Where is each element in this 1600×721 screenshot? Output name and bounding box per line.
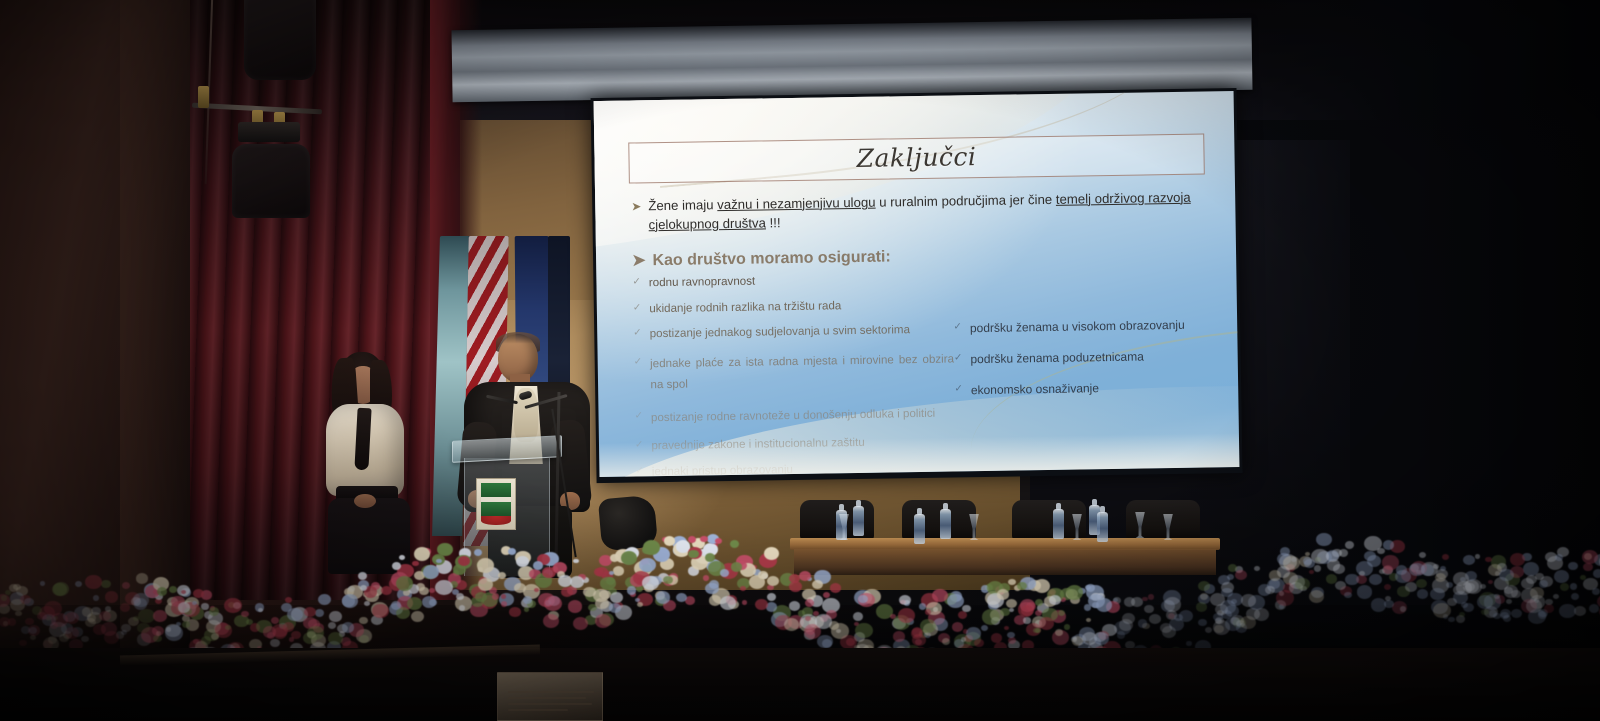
flower	[1345, 541, 1355, 549]
stage-speaker-top	[244, 0, 316, 80]
flower	[1235, 570, 1247, 580]
flower	[1488, 580, 1493, 584]
flower	[899, 595, 911, 605]
water-bottle	[1053, 509, 1064, 539]
flower	[1499, 569, 1514, 582]
auditorium-scene: Zaključci ➤ Žene imaju važnu i nezamjenj…	[0, 0, 1600, 721]
flower	[758, 571, 767, 579]
list-item-label: rodnu ravnopravnost	[649, 275, 756, 291]
flower	[478, 578, 493, 591]
flower	[1545, 599, 1553, 606]
flower	[925, 609, 932, 615]
flower	[1511, 609, 1522, 618]
flower	[755, 599, 768, 610]
flower	[474, 549, 482, 556]
flower	[830, 583, 841, 593]
flower	[1475, 554, 1481, 559]
flower	[1326, 574, 1338, 584]
slide-lead-bullet: ➤ Žene imaju važnu i nezamjenjivu ulogu …	[631, 189, 1204, 235]
flower	[1006, 599, 1017, 608]
flower	[664, 536, 676, 546]
flower	[855, 623, 873, 638]
flower	[1384, 584, 1392, 591]
flower	[544, 596, 562, 611]
list-item-label: podršku ženama poduzetnicama	[970, 350, 1144, 368]
flower	[1309, 570, 1314, 574]
flower	[1309, 590, 1324, 603]
flower	[501, 601, 507, 606]
flower	[1539, 580, 1549, 588]
flower	[1196, 602, 1208, 612]
flower	[524, 607, 529, 612]
flower	[533, 561, 543, 570]
flower	[419, 587, 429, 596]
list-item-label: jednake plaće za ista radna mjesta i mir…	[650, 348, 955, 396]
flower	[573, 559, 578, 564]
flower	[133, 616, 139, 621]
flower	[789, 601, 801, 611]
flower	[720, 569, 729, 577]
flower	[120, 603, 130, 612]
flower	[1553, 594, 1559, 599]
coat-of-arms-icon	[476, 478, 516, 530]
flower	[459, 605, 466, 611]
flower	[1435, 573, 1446, 582]
flower	[991, 633, 1002, 643]
flower	[241, 611, 249, 618]
flower	[1305, 552, 1310, 556]
check-icon: ✓	[633, 302, 642, 317]
flower	[1007, 632, 1015, 638]
flower	[812, 580, 823, 590]
flower	[1066, 585, 1083, 600]
list-item-label: podršku ženama u visokom obrazovanju	[970, 318, 1185, 336]
flower	[19, 640, 27, 647]
flower	[1377, 548, 1385, 555]
flower	[1269, 570, 1282, 581]
flower	[1528, 609, 1546, 624]
list-item: ✓postizanje rodne ravnoteže u donošenju …	[634, 402, 955, 428]
flower	[1086, 584, 1095, 592]
projected-slide: Zaključci ➤ Žene imaju važnu i nezamjenj…	[594, 91, 1240, 477]
flower	[1254, 566, 1260, 571]
flower	[1311, 549, 1329, 564]
flower	[182, 621, 190, 628]
flower	[767, 576, 779, 587]
flower	[981, 625, 988, 631]
check-icon: ✓	[633, 328, 642, 343]
flower	[1316, 533, 1332, 547]
flower	[663, 576, 673, 585]
list-item-label: ekonomsko osnaživanje	[971, 382, 1099, 399]
flower	[1276, 590, 1294, 605]
flower	[1510, 553, 1525, 566]
flower	[435, 580, 453, 595]
check-icon: ✓	[634, 353, 643, 396]
list-item: ✓ekonomsko osnaživanje	[954, 380, 1206, 399]
list-item: ✓jednake plaće za ista radna mjesta i mi…	[634, 348, 955, 396]
flower	[595, 614, 611, 628]
flower	[1442, 554, 1449, 560]
rig-mount-plate	[238, 122, 300, 142]
flower	[688, 550, 698, 559]
flower	[211, 633, 219, 640]
flower	[568, 600, 582, 612]
list-item-label: postizanje rodne ravnoteže u donošenju o…	[651, 403, 936, 429]
flower	[372, 604, 388, 618]
flower	[627, 586, 637, 594]
flower	[805, 599, 814, 607]
flower	[1213, 613, 1222, 621]
flower	[784, 618, 799, 631]
flower	[1072, 636, 1083, 646]
water-bottle	[853, 506, 864, 536]
event-placard	[497, 672, 603, 721]
flower	[705, 583, 718, 595]
stage-speaker-bottom	[232, 144, 310, 218]
flower	[1417, 589, 1429, 599]
flower	[982, 609, 1000, 624]
flower	[1447, 598, 1457, 607]
screen-frame: Zaključci ➤ Žene imaju važnu i nezamjenj…	[591, 88, 1243, 483]
flower	[731, 562, 743, 572]
flower	[5, 590, 11, 595]
flower	[1138, 619, 1148, 627]
flower	[318, 594, 331, 605]
flower	[846, 638, 855, 646]
flower	[1283, 556, 1300, 570]
flower	[1049, 595, 1061, 605]
emblem-green-band-bottom	[481, 502, 511, 516]
flower	[703, 575, 710, 581]
flower	[1453, 572, 1469, 586]
water-bottle	[914, 514, 925, 544]
flower	[570, 576, 584, 588]
flower	[1124, 597, 1135, 607]
flower	[1485, 557, 1492, 563]
flower	[8, 618, 17, 626]
flower	[456, 593, 464, 600]
flower	[85, 575, 102, 590]
flower	[1395, 570, 1410, 583]
flower	[99, 611, 111, 621]
arrow-bullet-icon: ➤	[631, 197, 642, 235]
flower	[1186, 641, 1191, 646]
flower	[1430, 588, 1445, 601]
flower	[396, 576, 413, 591]
flower	[911, 628, 923, 639]
flower	[75, 581, 82, 587]
flower	[561, 587, 573, 597]
flower	[1214, 625, 1223, 633]
emblem-green-band-top	[481, 483, 511, 497]
flower	[93, 595, 99, 601]
flower	[1117, 631, 1126, 638]
flower	[1570, 583, 1578, 590]
flower	[153, 635, 161, 642]
flower	[966, 627, 981, 640]
flower	[1345, 574, 1359, 586]
flower	[1384, 600, 1394, 608]
flower	[1241, 594, 1256, 607]
slide-subheading-row: ➤ Kao društvo moramo osigurati:	[632, 242, 1204, 271]
flower	[101, 580, 111, 588]
flower	[1035, 610, 1042, 616]
flower	[742, 600, 747, 605]
flower	[789, 581, 802, 592]
flower	[1504, 585, 1518, 597]
flower	[1592, 588, 1600, 595]
flower	[1335, 581, 1346, 591]
flower	[289, 637, 295, 642]
flower	[178, 602, 191, 613]
flower	[1463, 603, 1474, 612]
flower	[1339, 549, 1349, 557]
flower	[919, 603, 927, 610]
flower	[342, 594, 359, 608]
flower	[1265, 586, 1275, 595]
flower	[271, 617, 279, 624]
flower	[815, 614, 832, 628]
flower	[492, 593, 499, 599]
flower	[136, 573, 149, 584]
list-item-label: ukidanje rodnih razlika na tržištu rada	[649, 299, 841, 316]
flower	[1280, 547, 1291, 556]
flower	[1554, 570, 1569, 583]
slide-title: Zaključci	[856, 142, 976, 173]
flower	[610, 554, 619, 561]
flower	[157, 587, 168, 596]
flower	[1583, 563, 1593, 572]
flower	[509, 607, 520, 617]
flower	[498, 572, 506, 579]
flower	[730, 540, 739, 548]
flower	[501, 594, 506, 599]
list-item: ✓rodnu ravnopravnost	[632, 272, 953, 292]
flower	[423, 565, 439, 579]
hands	[354, 494, 376, 508]
list-item: ✓ukidanje rodnih razlika na tržištu rada	[633, 297, 954, 317]
flower	[1344, 592, 1352, 599]
list-item: ✓podršku ženama poduzetnicama	[954, 349, 1206, 368]
lighting-rig	[186, 0, 376, 224]
flower	[399, 555, 405, 560]
flower	[705, 553, 716, 562]
flower	[134, 598, 147, 610]
flower	[740, 586, 746, 591]
flower	[1, 595, 7, 600]
flower	[1571, 593, 1580, 601]
flower	[358, 572, 367, 580]
flower	[1448, 617, 1455, 623]
list-item-label: postizanje jednakog sudjelovanja u svim …	[650, 324, 911, 343]
flower	[997, 589, 1009, 600]
flower	[364, 601, 370, 606]
flower	[898, 608, 915, 623]
flower	[1383, 540, 1394, 549]
check-icon: ✓	[954, 384, 963, 399]
flower	[764, 547, 779, 560]
flower	[1521, 578, 1534, 589]
flower	[329, 611, 342, 622]
flower	[1400, 606, 1406, 611]
flower	[1419, 552, 1426, 558]
flower	[1149, 614, 1161, 624]
flower	[1560, 583, 1569, 591]
flower	[209, 607, 219, 616]
flower	[1162, 626, 1176, 638]
flower	[831, 623, 849, 639]
flower	[1055, 629, 1063, 636]
woman-standing	[312, 352, 420, 572]
flower	[272, 624, 288, 638]
check-icon: ✓	[634, 407, 643, 429]
flower	[1357, 585, 1372, 598]
flower	[1523, 562, 1539, 576]
emblem-red-field	[481, 516, 511, 525]
flower	[853, 612, 863, 621]
flower	[1463, 555, 1475, 566]
flower	[1198, 581, 1210, 591]
slide-body: ➤ Žene imaju važnu i nezamjenjivu ulogu …	[631, 189, 1208, 478]
slide-lead-text: Žene imaju važnu i nezamjenjivu ulogu u …	[648, 189, 1203, 235]
flower	[637, 602, 643, 607]
flower	[1021, 605, 1033, 615]
flower	[1555, 554, 1563, 561]
flower	[609, 571, 614, 575]
flower	[799, 571, 811, 581]
flower	[166, 627, 172, 632]
flower	[1333, 564, 1345, 575]
rig-clamp	[198, 86, 209, 108]
slide-title-box: Zaključci	[628, 134, 1205, 184]
arrow-bullet-icon: ➤	[632, 251, 646, 271]
flower	[412, 561, 418, 567]
water-bottle	[1097, 512, 1108, 542]
flower	[122, 582, 131, 590]
flower	[1314, 565, 1322, 572]
check-icon: ✓	[632, 277, 641, 292]
flower	[1568, 562, 1578, 570]
flower	[1405, 582, 1417, 593]
flower	[1416, 579, 1427, 588]
flower	[594, 568, 603, 576]
flower	[1369, 574, 1382, 585]
flower	[169, 586, 177, 593]
flower	[1589, 604, 1599, 613]
flower	[642, 576, 659, 591]
flower	[105, 591, 118, 602]
flower	[381, 586, 392, 595]
list-item: ✓podršku ženama u visokom obrazovanju	[953, 318, 1205, 337]
flower	[1227, 574, 1234, 580]
flower	[1506, 599, 1512, 604]
flower	[639, 558, 656, 573]
flower	[613, 566, 625, 576]
flower	[477, 558, 494, 573]
flower	[152, 626, 164, 636]
water-bottle	[940, 509, 951, 539]
flower	[414, 547, 430, 561]
flower	[767, 593, 777, 602]
flower	[1295, 578, 1310, 591]
flower	[391, 601, 401, 609]
flower	[1544, 604, 1555, 613]
flower	[720, 596, 736, 610]
flower	[1033, 628, 1039, 633]
flower	[823, 592, 830, 598]
flower	[688, 536, 696, 543]
flower	[1480, 584, 1486, 589]
flower	[1148, 594, 1155, 600]
check-icon: ✓	[954, 353, 963, 368]
list-item: ✓postizanje jednakog sudjelovanja u svim…	[633, 323, 954, 343]
flower	[53, 582, 69, 596]
flower	[1503, 615, 1511, 622]
flower	[858, 595, 867, 603]
flower	[287, 608, 303, 621]
flower	[93, 624, 106, 635]
slide-subheading: Kao društvo moramo osigurati:	[652, 249, 891, 271]
check-icon: ✓	[953, 322, 962, 337]
flower	[40, 581, 46, 586]
flower	[1088, 594, 1105, 608]
flower	[1593, 569, 1600, 578]
